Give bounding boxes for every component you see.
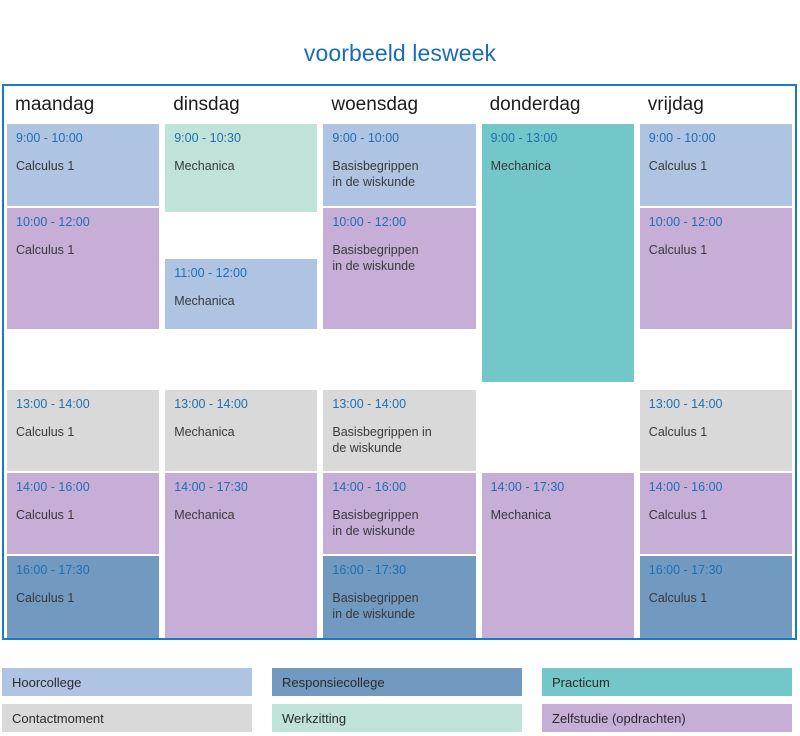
course-block[interactable]: 13:00 - 14:00Calculus 1 xyxy=(640,390,792,471)
course-block[interactable]: 10:00 - 12:00Calculus 1 xyxy=(640,208,792,329)
course-block-time: 10:00 - 12:00 xyxy=(332,215,475,230)
legend-item-label: Zelfstudie (opdrachten) xyxy=(552,711,686,726)
course-block-title: Mechanica xyxy=(174,158,317,174)
course-block[interactable]: 9:00 - 10:30Mechanica xyxy=(165,124,317,212)
course-block-time: 14:00 - 17:30 xyxy=(491,480,634,495)
course-block[interactable]: 9:00 - 10:00Basisbegrippenin de wiskunde xyxy=(323,124,475,206)
course-block[interactable]: 9:00 - 10:00Calculus 1 xyxy=(7,124,159,206)
course-block-time: 16:00 - 17:30 xyxy=(16,563,159,578)
course-block-title: Calculus 1 xyxy=(16,158,159,174)
course-block-time: 9:00 - 10:00 xyxy=(649,131,792,146)
course-block[interactable]: 16:00 - 17:30Basisbegrippenin de wiskund… xyxy=(323,556,475,638)
course-block-time: 14:00 - 16:00 xyxy=(16,480,159,495)
course-block-time: 13:00 - 14:00 xyxy=(332,397,475,412)
course-block[interactable]: 10:00 - 12:00Basisbegrippenin de wiskund… xyxy=(323,208,475,329)
legend-item: Hoorcollege xyxy=(2,668,252,696)
course-block-title: Calculus 1 xyxy=(16,424,159,440)
course-block-title: Basisbegrippenin de wiskunde xyxy=(332,242,475,274)
course-block[interactable]: 9:00 - 13:00Mechanica xyxy=(482,124,634,382)
day-header-label: vrijdag xyxy=(648,94,704,116)
day-header-label: woensdag xyxy=(331,94,418,116)
course-block[interactable]: 14:00 - 17:30Mechanica xyxy=(165,473,317,638)
course-block-title: Basisbegrippenin de wiskunde xyxy=(332,507,475,539)
legend-item-label: Hoorcollege xyxy=(12,675,81,690)
course-block-title: Basisbegrippenin de wiskunde xyxy=(332,590,475,622)
legend-item: Werkzitting xyxy=(272,704,522,732)
course-block-time: 16:00 - 17:30 xyxy=(332,563,475,578)
day-header-woensdag: woensdag xyxy=(320,86,478,124)
timetable-page: voorbeeld lesweek maandagdinsdagwoensdag… xyxy=(0,0,800,736)
timetable-header-row: maandagdinsdagwoensdagdonderdagvrijdag xyxy=(4,86,795,124)
course-block[interactable]: 14:00 - 16:00Calculus 1 xyxy=(7,473,159,554)
course-block-title: Basisbegrippenin de wiskunde xyxy=(332,158,475,190)
day-header-donderdag: donderdag xyxy=(479,86,637,124)
timetable-body: 9:00 - 10:00Calculus 110:00 - 12:00Calcu… xyxy=(4,124,795,638)
course-block-time: 14:00 - 16:00 xyxy=(649,480,792,495)
course-block-title: Mechanica xyxy=(491,158,634,174)
course-block-time: 10:00 - 12:00 xyxy=(649,215,792,230)
course-block-time: 11:00 - 12:00 xyxy=(174,266,317,281)
day-header-label: dinsdag xyxy=(173,94,240,116)
day-header-maandag: maandag xyxy=(4,86,162,124)
course-block-time: 9:00 - 10:30 xyxy=(174,131,317,146)
course-block[interactable]: 13:00 - 14:00Calculus 1 xyxy=(7,390,159,471)
course-block-title: Mechanica xyxy=(174,507,317,523)
course-block-time: 14:00 - 17:30 xyxy=(174,480,317,495)
course-block-title: Calculus 1 xyxy=(16,507,159,523)
course-block[interactable]: 14:00 - 17:30Mechanica xyxy=(482,473,634,638)
day-header-vrijdag: vrijdag xyxy=(637,86,795,124)
course-block-title: Calculus 1 xyxy=(649,242,792,258)
course-block-time: 9:00 - 13:00 xyxy=(491,131,634,146)
course-block-title: Mechanica xyxy=(491,507,634,523)
course-block[interactable]: 10:00 - 12:00Calculus 1 xyxy=(7,208,159,329)
course-block-title: Calculus 1 xyxy=(649,590,792,606)
legend-item: Responsiecollege xyxy=(272,668,522,696)
course-block-title: Calculus 1 xyxy=(649,507,792,523)
legend-item-label: Contactmoment xyxy=(12,711,104,726)
course-block-time: 14:00 - 16:00 xyxy=(332,480,475,495)
course-block-title: Basisbegrippen inde wiskunde xyxy=(332,424,475,456)
legend-item: Zelfstudie (opdrachten) xyxy=(542,704,792,732)
day-header-label: maandag xyxy=(15,94,94,116)
course-block-title: Calculus 1 xyxy=(16,590,159,606)
course-block-time: 9:00 - 10:00 xyxy=(16,131,159,146)
course-block-time: 13:00 - 14:00 xyxy=(174,397,317,412)
course-block[interactable]: 13:00 - 14:00Mechanica xyxy=(165,390,317,471)
page-title: voorbeeld lesweek xyxy=(0,40,800,67)
legend-item: Practicum xyxy=(542,668,792,696)
course-block[interactable]: 16:00 - 17:30Calculus 1 xyxy=(640,556,792,638)
course-block[interactable]: 13:00 - 14:00Basisbegrippen inde wiskund… xyxy=(323,390,475,471)
course-block[interactable]: 14:00 - 16:00Calculus 1 xyxy=(640,473,792,554)
course-block-time: 13:00 - 14:00 xyxy=(649,397,792,412)
legend: HoorcollegeResponsiecollegePracticumCont… xyxy=(0,660,800,730)
course-block-title: Mechanica xyxy=(174,424,317,440)
course-block[interactable]: 9:00 - 10:00Calculus 1 xyxy=(640,124,792,206)
legend-item-label: Practicum xyxy=(552,675,610,690)
day-header-label: donderdag xyxy=(490,94,581,116)
course-block-time: 9:00 - 10:00 xyxy=(332,131,475,146)
timetable: maandagdinsdagwoensdagdonderdagvrijdag 9… xyxy=(2,84,797,640)
course-block-time: 13:00 - 14:00 xyxy=(16,397,159,412)
course-block-time: 16:00 - 17:30 xyxy=(649,563,792,578)
legend-item-label: Responsiecollege xyxy=(282,675,385,690)
legend-item-label: Werkzitting xyxy=(282,711,346,726)
course-block-time: 10:00 - 12:00 xyxy=(16,215,159,230)
course-block-title: Calculus 1 xyxy=(16,242,159,258)
course-block[interactable]: 14:00 - 16:00Basisbegrippenin de wiskund… xyxy=(323,473,475,554)
course-block[interactable]: 11:00 - 12:00Mechanica xyxy=(165,259,317,329)
course-block-title: Calculus 1 xyxy=(649,158,792,174)
legend-item: Contactmoment xyxy=(2,704,252,732)
course-block[interactable]: 16:00 - 17:30Calculus 1 xyxy=(7,556,159,638)
course-block-title: Mechanica xyxy=(174,293,317,309)
day-header-dinsdag: dinsdag xyxy=(162,86,320,124)
course-block-title: Calculus 1 xyxy=(649,424,792,440)
